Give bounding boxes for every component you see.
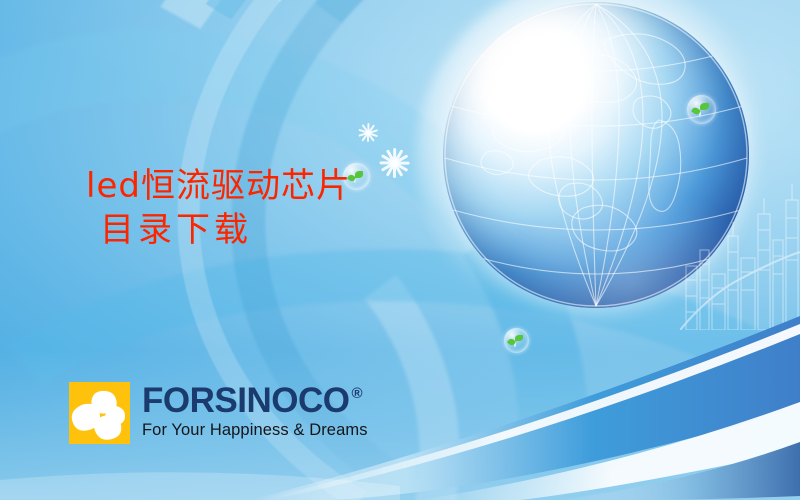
globe-continents	[481, 34, 685, 251]
headline-line-2: 目录下载	[86, 208, 506, 252]
white-flower-small	[357, 123, 376, 142]
logo-tagline: For Your Happiness & Dreams	[142, 421, 368, 440]
logo-text-block: FORSINOCO ® For Your Happiness & Dreams	[142, 382, 368, 440]
four-petal-pinwheel-icon	[69, 382, 130, 444]
company-logo: FORSINOCO ® For Your Happiness & Dreams	[69, 382, 368, 444]
banner-canvas: led恒流驱动芯片 目录下载 FORSINOCO ® For Your Happ…	[0, 0, 800, 500]
logo-wordmark: FORSINOCO ®	[142, 383, 368, 419]
logo-wordmark-text: FORSINOCO	[142, 383, 349, 419]
headline-block: led恒流驱动芯片 目录下载	[86, 164, 506, 252]
headline-line-1: led恒流驱动芯片	[86, 164, 506, 208]
bubble-green-sprout-right	[687, 95, 716, 124]
registered-trademark-icon: ®	[351, 386, 362, 401]
